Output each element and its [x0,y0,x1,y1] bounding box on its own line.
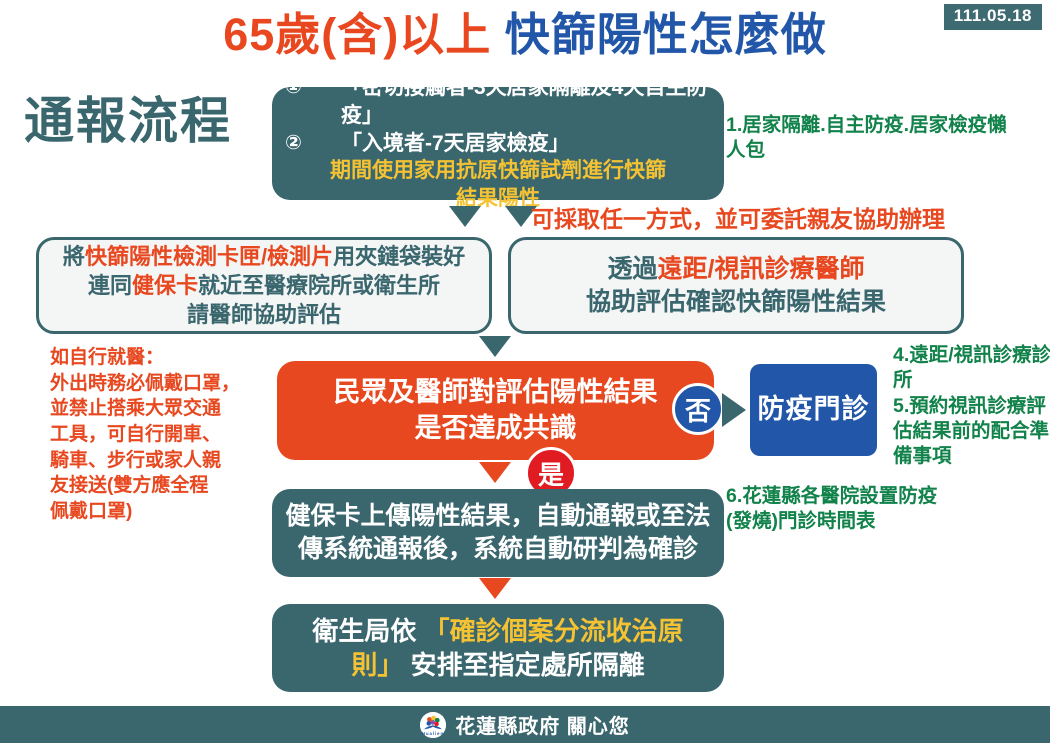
upload-line-1: 健保卡上傳陽性結果，自動通報或至法 [285,500,710,533]
arrow-down-to-final [479,578,511,599]
final-line2-highlight: 則」 [351,650,403,680]
reference-note-1: 1.居家隔離.自主防疫.居家檢疫懶人包 [726,113,1026,164]
infographic-page: 111.05.18 65歲(含)以上 快篩陽性怎麼做 通報流程 ① 「密切接觸者… [0,0,1050,743]
condition-item-1: ① 「密切接觸者-3天居家隔離及4天自主防疫」 [279,74,717,129]
arrow-down-to-decision [479,336,511,357]
step-box-upload-result: 健保卡上傳陽性結果，自動通報或至法 傳系統通報後，系統自動研判為確診 [272,489,724,577]
note-any-method: 可採取任一方式，並可委託親友協助辦理 [531,204,945,235]
page-title-orange-part: 65歲(含)以上 [223,9,491,60]
page-title-blue-part: 快篩陽性怎麼做 [505,9,827,60]
box-left-line2-highlight: 健保卡 [132,273,198,298]
box-left-line-1: 將快篩陽性檢測卡匣/檢測片用夾鏈袋裝好 [63,242,465,271]
footer-text: 花蓮縣政府 關心您 [455,710,630,739]
page-title: 65歲(含)以上 快篩陽性怎麼做 [0,9,1050,61]
condition-item-1-text: 「密切接觸者-3天居家隔離及4天自主防疫」 [341,74,717,129]
final-line2-c: 安排至指定處所隔離 [411,650,645,680]
upload-line-2: 傳系統通報後，系統自動研判為確診 [298,533,698,566]
box-left-line1-highlight: 快篩陽性檢測卡匣/檢測片 [85,244,333,269]
step-box-take-kit-to-clinic: 將快篩陽性檢測卡匣/檢測片用夾鏈袋裝好 連同健保卡就近至醫療院所或衛生所 請醫師… [36,237,492,334]
reference-note-4-5: 4.遠距/視訊診療診所 5.預約視訊診療評估結果前的配合準備事項 [893,343,1050,470]
arrow-right-to-clinic [722,393,746,427]
badge-no: 否 [672,383,724,435]
box-right-line1-a: 透過 [608,255,658,283]
box-right-line-2: 協助評估確認快篩陽性結果 [586,286,886,319]
arrow-down-to-left-box [449,206,481,227]
box-right-line-1: 透過遠距/視訊診療醫師 [608,253,865,286]
decision-line-2: 是否達成共識 [415,411,577,447]
flow-label: 通報流程 [24,94,232,149]
footer-bar: Hualien 花蓮縣政府 關心您 [0,706,1050,743]
condition-item-1-number: ① [285,74,341,100]
reference-note-6: 6.花蓮縣各醫院設置防疫(發燒)門診時間表 [726,484,956,535]
decision-box-consensus: 民眾及醫師對評估陽性結果 是否達成共識 [277,361,714,460]
final-line-2: 則」 安排至指定處所隔離 [351,648,644,682]
box-left-line2-a: 連同 [88,273,132,298]
condition-item-2-number: ② [285,130,341,156]
box-right-line1-highlight: 遠距/視訊診療醫師 [658,255,865,283]
note-self-transport: 如自行就醫： 外出時務必佩戴口罩， 並禁止搭乘大眾交通 工具，可自行開車、 騎車… [50,345,265,524]
box-left-line1-a: 將 [63,244,85,269]
box-left-line1-c: 用夾鏈袋裝好 [333,244,465,269]
condition-line-3: 期間使用家用抗原快篩試劑進行快篩 [282,157,714,185]
result-box-epidemic-clinic: 防疫門診 [750,364,877,456]
final-line-1: 衛生局依 「確診個案分流收治原 [312,614,683,648]
final-line1-highlight: 「確診個案分流收治原 [424,616,684,646]
arrow-down-to-upload [479,462,511,483]
final-line1-a: 衛生局依 [312,616,416,646]
box-left-line2-c: 就近至醫療院所或衛生所 [198,273,440,298]
decision-line-1: 民眾及醫師對評估陽性結果 [334,375,658,411]
condition-item-2-text: 「入境者-7天居家檢疫」 [341,130,717,158]
step-box-telemedicine: 透過遠距/視訊診療醫師 協助評估確認快篩陽性結果 [508,237,964,334]
box-left-line-2: 連同健保卡就近至醫療院所或衛生所 [88,271,440,300]
box-left-line-3: 請醫師協助評估 [187,300,341,329]
hualien-logo-icon: Hualien [420,712,446,738]
condition-item-2: ② 「入境者-7天居家檢疫」 [279,130,717,158]
step-box-conditions: ① 「密切接觸者-3天居家隔離及4天自主防疫」 ② 「入境者-7天居家檢疫」 期… [272,87,724,200]
svg-text:Hualien: Hualien [422,731,444,736]
step-box-health-bureau-arrangement: 衛生局依 「確診個案分流收治原 則」 安排至指定處所隔離 [272,604,724,692]
